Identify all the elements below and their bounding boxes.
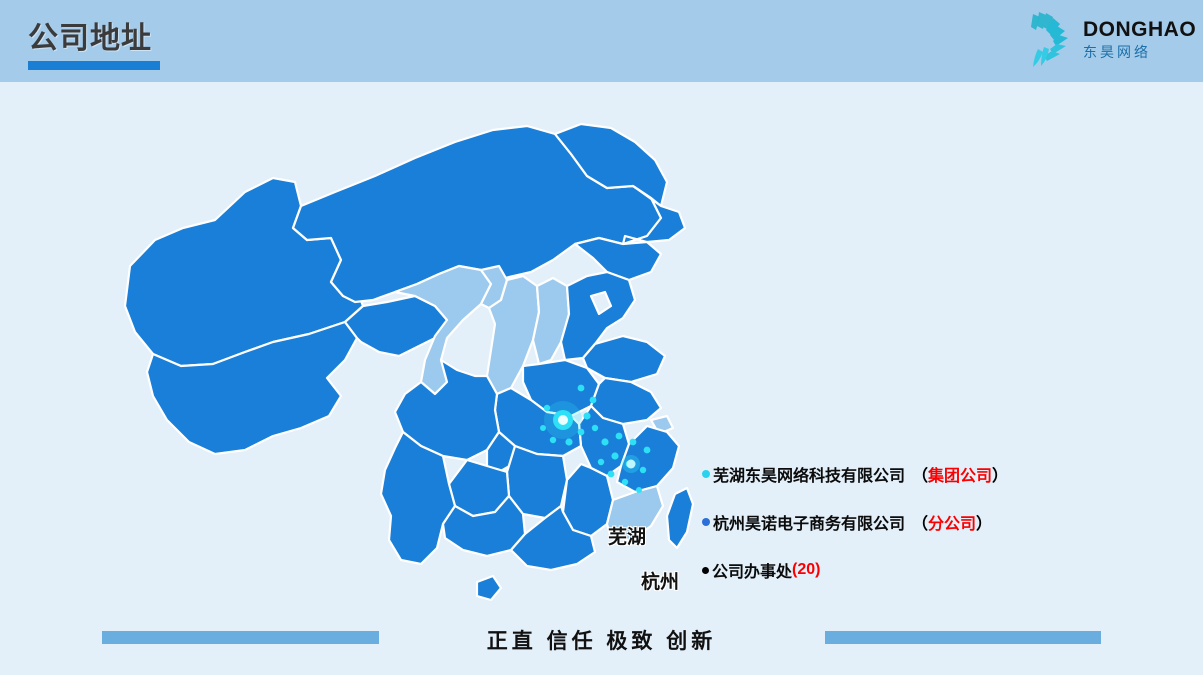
legend-highlight: (20): [792, 561, 820, 579]
marker-wuhu-core: [558, 415, 568, 425]
legend-highlight: 分公司: [928, 510, 976, 534]
legend-bullet-icon: [702, 567, 709, 574]
brand-logo: DONGHAO 东昊网络: [1019, 6, 1189, 72]
page-header: 公司地址: [0, 0, 1203, 82]
title-wrap: 公司地址: [28, 20, 160, 70]
legend-paren-open: （: [912, 462, 928, 486]
logo-name-cn: 东昊网络: [1083, 43, 1196, 61]
map-legend: 芜湖东昊网络科技有限公司 （ 集团公司 ） 杭州昊诺电子商务有限公司 （ 分公司…: [702, 462, 1122, 582]
legend-paren-close: ）: [976, 510, 992, 534]
footer-bar-right: [825, 631, 1101, 644]
title-underline: [28, 61, 160, 70]
legend-bullet-icon: [702, 518, 710, 526]
legend-item-offices[interactable]: 公司办事处 (20): [702, 558, 1122, 582]
legend-paren-open: （: [912, 510, 928, 534]
province-hainan: [477, 576, 501, 600]
legend-label: 芜湖东昊网络科技有限公司: [713, 462, 905, 486]
logo-text: DONGHAO 东昊网络: [1083, 18, 1196, 61]
logo-name-en: DONGHAO: [1083, 18, 1196, 42]
province-shandong: [583, 336, 665, 382]
legend-label: 公司办事处: [712, 558, 792, 582]
marker-hangzhou: [627, 460, 636, 469]
page-title: 公司地址: [28, 20, 160, 58]
china-map[interactable]: 芜湖 杭州: [95, 120, 695, 610]
feather-fan-icon: [1019, 8, 1081, 70]
legend-paren-close: ）: [992, 462, 1008, 486]
legend-item-branch-company[interactable]: 杭州昊诺电子商务有限公司 （ 分公司 ）: [702, 510, 1122, 534]
legend-highlight: 集团公司: [928, 462, 992, 486]
legend-label: 杭州昊诺电子商务有限公司: [713, 510, 905, 534]
city-label-wuhu: 芜湖: [608, 522, 646, 549]
legend-bullet-icon: [702, 470, 710, 478]
province-taiwan: [667, 488, 693, 548]
city-label-hangzhou: 杭州: [641, 567, 679, 594]
legend-item-group-company[interactable]: 芜湖东昊网络科技有限公司 （ 集团公司 ）: [702, 462, 1122, 486]
province-liaoning: [575, 238, 661, 280]
